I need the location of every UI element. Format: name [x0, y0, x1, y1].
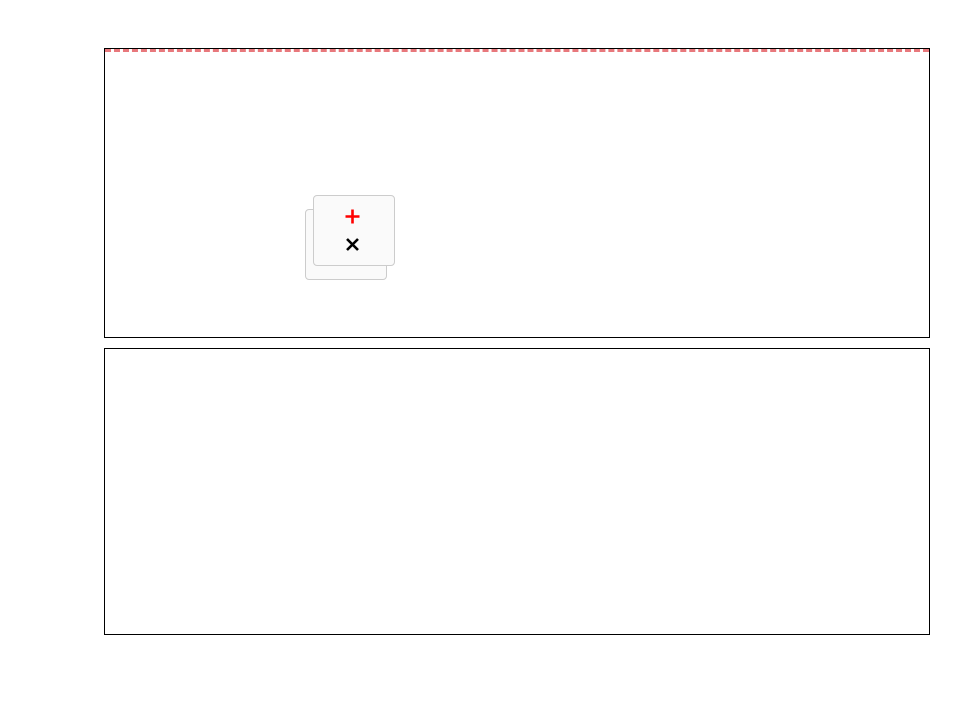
- bottom-panel-legend: [313, 195, 395, 266]
- figure-root: [0, 0, 960, 720]
- legend-item-matched-stars: [325, 202, 383, 230]
- top-panel-axes: [104, 48, 930, 338]
- legend-item-predicted-stars: [325, 230, 383, 258]
- threshold-line: [105, 49, 929, 52]
- plus-marker-icon: [325, 208, 379, 225]
- cross-marker-icon: [325, 236, 379, 253]
- bottom-panel-axes: [104, 348, 930, 635]
